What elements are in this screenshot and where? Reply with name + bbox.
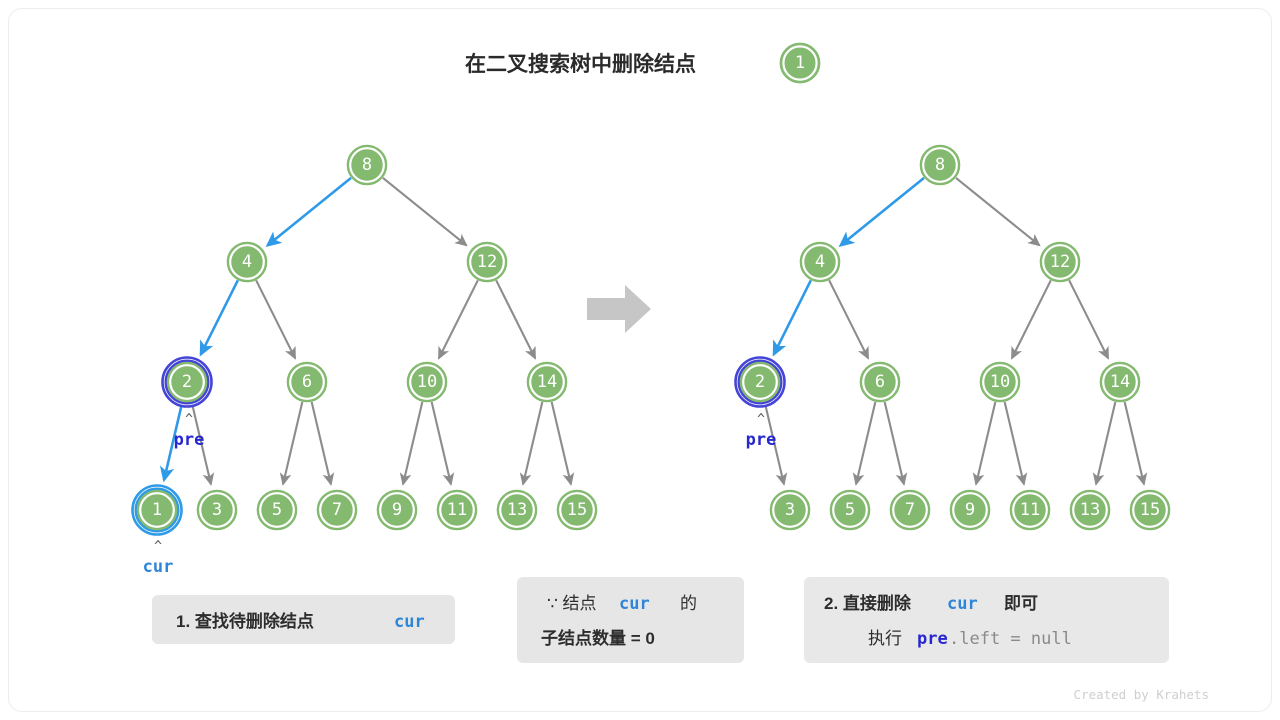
node-value: 9 xyxy=(392,500,402,520)
node-value: 13 xyxy=(507,500,527,520)
pointer-label-cur: ^cur xyxy=(143,539,174,577)
tree-node-12[interactable]: 12 xyxy=(467,242,507,282)
tree-edge xyxy=(1125,402,1144,484)
caption-step2-line2-code-pre: pre xyxy=(917,629,948,649)
tree-edge xyxy=(976,402,995,484)
tree-node-11[interactable]: 11 xyxy=(437,490,477,530)
tree-node-2[interactable]: 2 xyxy=(163,358,212,407)
caption-step2-line1-code: cur xyxy=(947,594,978,614)
tree-edge xyxy=(1069,280,1108,358)
tree-edge xyxy=(1012,280,1051,358)
tree-node-8[interactable]: 8 xyxy=(920,145,960,185)
tree-edge xyxy=(312,402,331,484)
caption-step2-line1-cn: 2. 直接删除 xyxy=(824,593,912,613)
tree-node-7[interactable]: 7 xyxy=(317,490,357,530)
tree-node-15[interactable]: 15 xyxy=(557,490,597,530)
tree-node-15[interactable]: 15 xyxy=(1130,490,1170,530)
tree-edge xyxy=(383,178,466,245)
pointer-name: pre xyxy=(174,430,205,450)
tree-node-5[interactable]: 5 xyxy=(257,490,297,530)
node-value: 5 xyxy=(845,500,855,520)
tree-edge xyxy=(523,402,542,484)
left-tree-edges xyxy=(164,178,571,484)
tree-node-4[interactable]: 4 xyxy=(227,242,267,282)
node-value: 5 xyxy=(272,500,282,520)
tree-node-5[interactable]: 5 xyxy=(830,490,870,530)
title-badge: 1 xyxy=(780,43,820,83)
node-value: 3 xyxy=(212,500,222,520)
node-value: 7 xyxy=(332,500,342,520)
tree-node-13[interactable]: 13 xyxy=(1070,490,1110,530)
pointer-name: cur xyxy=(143,557,174,577)
tree-edge xyxy=(432,402,451,484)
caption-step2-line2-code-rest: .left = null xyxy=(949,629,1072,649)
node-value: 14 xyxy=(537,372,557,392)
tree-node-6[interactable]: 6 xyxy=(287,362,327,402)
footer-credit: Created by Krahets xyxy=(1074,687,1209,702)
node-value: 12 xyxy=(477,252,497,272)
tree-node-14[interactable]: 14 xyxy=(527,362,567,402)
node-value: 11 xyxy=(1020,500,1040,520)
node-value: 4 xyxy=(815,252,825,272)
caption-step1-text: 1. 查找待删除结点 xyxy=(176,611,314,631)
node-value: 9 xyxy=(965,500,975,520)
right-tree-nodes: 84122610143579111315 xyxy=(736,145,1171,530)
node-value: 7 xyxy=(905,500,915,520)
tree-node-6[interactable]: 6 xyxy=(860,362,900,402)
diagram-canvas: 在二叉搜索树中删除结点 1 841226101413579111315 8412… xyxy=(9,9,1272,712)
node-value: 1 xyxy=(152,500,162,520)
node-value: 11 xyxy=(447,500,467,520)
caption-condition-line1-prefix: ∵ 结点 xyxy=(547,594,597,613)
tree-edge xyxy=(496,280,535,358)
tree-node-13[interactable]: 13 xyxy=(497,490,537,530)
caption-condition-line2: 子结点数量 = 0 xyxy=(541,628,655,648)
caption-step2-line1-suffix: 即可 xyxy=(1004,594,1038,613)
tree-node-9[interactable]: 9 xyxy=(377,490,417,530)
node-value: 8 xyxy=(935,155,945,175)
tree-edge xyxy=(439,280,478,358)
tree-node-8[interactable]: 8 xyxy=(347,145,387,185)
tree-edge xyxy=(1096,402,1115,484)
node-value: 8 xyxy=(362,155,372,175)
tree-node-7[interactable]: 7 xyxy=(890,490,930,530)
node-value: 13 xyxy=(1080,500,1100,520)
node-value: 3 xyxy=(785,500,795,520)
node-value: 6 xyxy=(875,372,885,392)
transition-arrow xyxy=(587,285,651,333)
tree-edge xyxy=(256,280,295,358)
caption-condition-box xyxy=(517,577,744,663)
caption-step2-line2-cn: 执行 xyxy=(868,629,902,648)
tree-node-10[interactable]: 10 xyxy=(407,362,447,402)
node-value: 15 xyxy=(1140,500,1160,520)
left-tree-nodes: 841226101413579111315 xyxy=(133,145,598,535)
page-title-group: 在二叉搜索树中删除结点 1 xyxy=(465,43,820,83)
badge-number: 1 xyxy=(795,53,805,73)
node-value: 12 xyxy=(1050,252,1070,272)
tree-edge xyxy=(856,402,875,484)
caption-step2-box xyxy=(804,577,1169,663)
tree-edge xyxy=(885,402,904,484)
caption-condition-line1-code: cur xyxy=(619,594,650,614)
page-title: 在二叉搜索树中删除结点 xyxy=(465,52,696,76)
pointer-caret-icon: ^ xyxy=(185,412,193,427)
tree-edge xyxy=(829,280,868,358)
right-tree-edges xyxy=(766,178,1144,484)
pointer-name: pre xyxy=(746,430,777,450)
pointer-label-pre: ^pre xyxy=(746,412,777,450)
tree-node-3[interactable]: 3 xyxy=(197,490,237,530)
tree-edge xyxy=(1005,402,1024,484)
node-value: 14 xyxy=(1110,372,1130,392)
tree-node-11[interactable]: 11 xyxy=(1010,490,1050,530)
tree-edge xyxy=(774,280,811,354)
tree-node-10[interactable]: 10 xyxy=(980,362,1020,402)
tree-node-2[interactable]: 2 xyxy=(736,358,785,407)
caption-condition: ∵ 结点 cur 的 子结点数量 = 0 xyxy=(517,577,744,663)
tree-node-12[interactable]: 12 xyxy=(1040,242,1080,282)
pointer-caret-icon: ^ xyxy=(154,539,162,554)
tree-node-14[interactable]: 14 xyxy=(1100,362,1140,402)
tree-edge xyxy=(956,178,1039,245)
tree-node-9[interactable]: 9 xyxy=(950,490,990,530)
node-value: 10 xyxy=(990,372,1010,392)
tree-edge xyxy=(403,402,422,484)
node-value: 10 xyxy=(417,372,437,392)
node-value: 4 xyxy=(242,252,252,272)
caption-step1: 1. 查找待删除结点 cur xyxy=(152,595,455,644)
node-value: 2 xyxy=(182,372,192,392)
right-tree-pointers: ^pre xyxy=(746,412,777,450)
node-value: 15 xyxy=(567,500,587,520)
tree-edge xyxy=(283,402,302,484)
pointer-caret-icon: ^ xyxy=(757,412,765,427)
tree-edge xyxy=(201,280,238,354)
diagram-card: 在二叉搜索树中删除结点 1 841226101413579111315 8412… xyxy=(8,8,1272,712)
tree-edge xyxy=(268,178,351,245)
caption-step2: 2. 直接删除 cur 即可 执行 pre .left = null xyxy=(804,577,1169,663)
tree-node-1[interactable]: 1 xyxy=(133,486,182,535)
tree-node-3[interactable]: 3 xyxy=(770,490,810,530)
node-value: 2 xyxy=(755,372,765,392)
tree-edge xyxy=(552,402,571,484)
caption-step1-code: cur xyxy=(394,612,425,632)
caption-condition-line1-suffix: 的 xyxy=(680,594,697,613)
tree-node-4[interactable]: 4 xyxy=(800,242,840,282)
node-value: 6 xyxy=(302,372,312,392)
tree-edge xyxy=(841,178,924,245)
